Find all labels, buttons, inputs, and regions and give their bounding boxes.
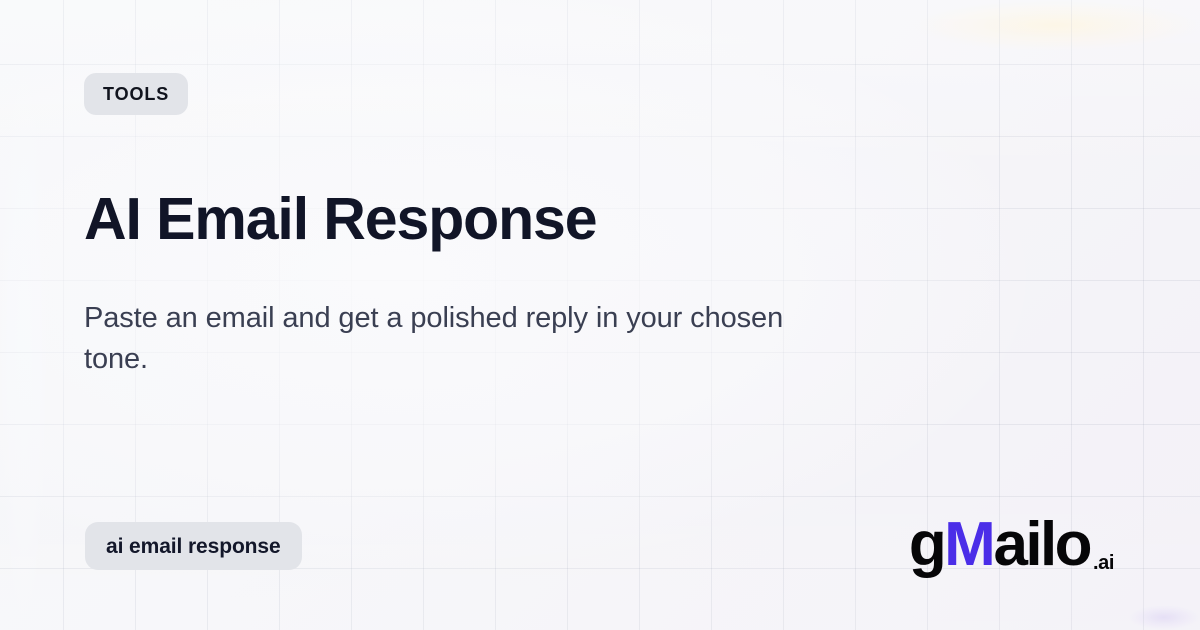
page-title: AI Email Response bbox=[84, 188, 596, 252]
brand-wordmark-prefix: g bbox=[909, 514, 944, 576]
page-subtitle: Paste an email and get a polished reply … bbox=[84, 298, 844, 380]
category-badge: TOOLS bbox=[84, 73, 188, 115]
brand-wordmark: g M ailo bbox=[909, 514, 1090, 576]
brand-wordmark-suffix: ailo bbox=[994, 514, 1090, 576]
tag-badge: ai email response bbox=[85, 522, 302, 570]
og-share-card: TOOLS AI Email Response Paste an email a… bbox=[0, 0, 1200, 630]
card-content: TOOLS AI Email Response Paste an email a… bbox=[0, 0, 1200, 630]
brand-accent-m-icon: M bbox=[944, 514, 993, 576]
brand-tld: .ai bbox=[1093, 552, 1114, 575]
brand-logo[interactable]: g M ailo .ai bbox=[909, 514, 1114, 576]
